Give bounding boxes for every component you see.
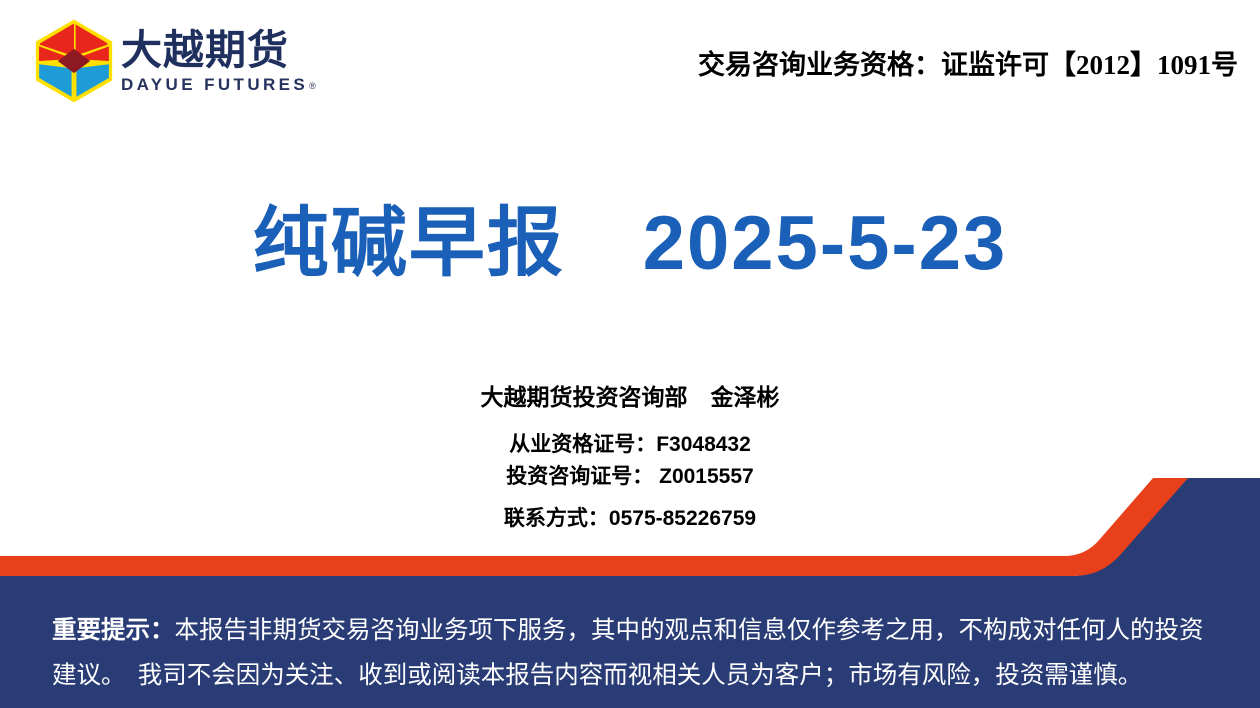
registered-trademark-icon: ®	[309, 81, 316, 91]
disclaimer-banner: 重要提示：本报告非期货交易咨询业务项下服务，其中的观点和信息仅作参考之用，不构成…	[0, 598, 1260, 708]
company-logo: 大越期货 DAYUE FUTURES ®	[33, 18, 316, 104]
disclaimer-body: 本报告非期货交易咨询业务项下服务，其中的观点和信息仅作参考之用，不构成对任何人的…	[52, 617, 1204, 689]
consulting-license-number: 投资咨询证号： Z0015557	[0, 461, 1260, 493]
logo-chinese-name: 大越期货	[121, 28, 316, 72]
dayue-cube-logo-icon	[33, 18, 115, 104]
logo-english-name: DAYUE FUTURES	[121, 75, 308, 94]
disclaimer-label: 重要提示：	[52, 617, 175, 644]
author-department: 大越期货投资咨询部 金泽彬	[0, 380, 1260, 414]
page-title: 纯碱早报 2025-5-23	[253, 196, 1008, 292]
logo-wordmark: 大越期货 DAYUE FUTURES ®	[121, 28, 316, 94]
disclaimer-text: 重要提示：本报告非期货交易咨询业务项下服务，其中的观点和信息仅作参考之用，不构成…	[52, 608, 1220, 698]
slide-header: 大越期货 DAYUE FUTURES ® 交易咨询业务资格：证监许可【2012】…	[0, 0, 1260, 120]
contact-info: 联系方式：0575-85226759	[0, 503, 1260, 535]
practice-license-number: 从业资格证号：F3048432	[0, 429, 1260, 461]
report-cover-slide: 大越期货 DAYUE FUTURES ® 交易咨询业务资格：证监许可【2012】…	[0, 0, 1260, 708]
author-block: 大越期货投资咨询部 金泽彬 从业资格证号：F3048432 投资咨询证号： Z0…	[0, 380, 1260, 535]
title-area: 纯碱早报 2025-5-23	[0, 196, 1260, 292]
qualification-statement: 交易咨询业务资格：证监许可【2012】1091号	[698, 48, 1238, 82]
